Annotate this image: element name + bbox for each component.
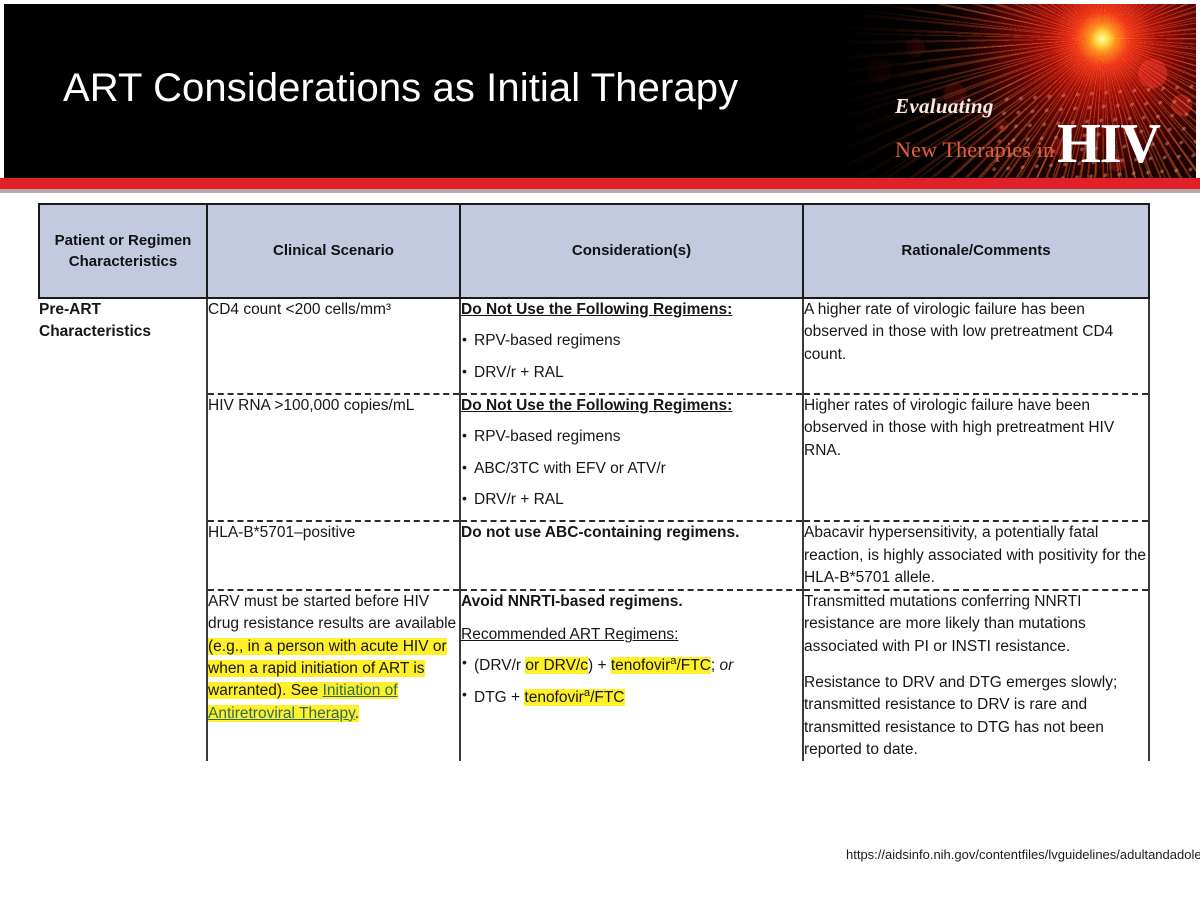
cell-considerations: Do not use ABC-containing regimens. [460, 521, 803, 590]
cell-considerations: Avoid NNRTI-based regimens. Recommended … [460, 590, 803, 761]
consideration-heading: Do Not Use the Following Regimens: [461, 299, 802, 321]
table-row: Pre-ART Characteristics CD4 count <200 c… [39, 298, 1149, 394]
program-logo: Evaluating New Therapies in HIV [885, 96, 1160, 168]
cell-characteristic [39, 590, 207, 761]
regimen-highlight-3: tenofovira/FTC [524, 689, 624, 706]
column-header-considerations: Consideration(s) [460, 204, 803, 298]
cell-characteristic: Pre-ART Characteristics [39, 298, 207, 394]
table-row: ARV must be started before HIV drug resi… [39, 590, 1149, 761]
slide-banner: ART Considerations as Initial Therapy Ev… [4, 4, 1196, 178]
cell-clinical-scenario: ARV must be started before HIV drug resi… [207, 590, 460, 761]
logo-line-two: New Therapies in HIV [885, 120, 1160, 168]
consideration-bullet-list: (DRV/r or DRV/c) + tenofovira/FTC; or DT… [461, 653, 802, 710]
column-header-rationale-comments: Rationale/Comments [803, 204, 1149, 298]
table-row: HLA-B*5701–positive Do not use ABC-conta… [39, 521, 1149, 590]
regimen-pre: DTG + [474, 689, 524, 706]
page-title: ART Considerations as Initial Therapy [63, 61, 783, 116]
scenario-highlight-tail: . [355, 705, 359, 722]
cell-rationale: A higher rate of virologic failure has b… [803, 298, 1149, 394]
consideration-heading-text: Do Not Use the Following Regimens [461, 301, 727, 318]
grey-divider-bar [0, 189, 1200, 193]
scenario-text: HLA-B*5701–positive [208, 524, 355, 541]
table-row: HIV RNA >100,000 copies/mL Do Not Use th… [39, 394, 1149, 521]
table-header-row: Patient or Regimen Characteristics Clini… [39, 204, 1149, 298]
scenario-text: CD4 count <200 cells/mm³ [208, 301, 391, 318]
scenario-lead-text: ARV must be started before HIV drug resi… [208, 593, 456, 632]
list-item: DTG + tenofovira/FTC [461, 685, 802, 709]
cell-characteristic [39, 394, 207, 521]
consideration-bullet-list: RPV-based regimens DRV/r + RAL [461, 330, 802, 384]
logo-acronym-hiv: HIV [1057, 120, 1160, 168]
rationale-paragraph: Transmitted mutations conferring NNRTI r… [804, 591, 1148, 658]
consideration-heading-suffix: : [727, 301, 732, 318]
list-item: RPV-based regimens [461, 426, 802, 448]
consideration-subheading: Recommended ART Regimens: [461, 624, 802, 646]
scenario-text: HIV RNA >100,000 copies/mL [208, 397, 414, 414]
regimen-tenofovir: tenofovir [524, 689, 583, 706]
cell-considerations: Do Not Use the Following Regimens: RPV-b… [460, 394, 803, 521]
list-item: (DRV/r or DRV/c) + tenofovira/FTC; or [461, 653, 802, 677]
rationale-paragraph: Abacavir hypersensitivity, a potentially… [804, 522, 1148, 589]
considerations-table-wrap: Patient or Regimen Characteristics Clini… [38, 203, 1148, 761]
source-url-footer: https://aidsinfo.nih.gov/contentfiles/lv… [846, 845, 1186, 865]
consideration-statement: Avoid NNRTI-based regimens. [461, 591, 802, 613]
regimen-post: ; [711, 657, 720, 674]
consideration-heading-suffix: : [727, 397, 732, 414]
regimen-pre: (DRV/r [474, 657, 525, 674]
cell-rationale: Transmitted mutations conferring NNRTI r… [803, 590, 1149, 761]
regimen-ftc: /FTC [676, 657, 710, 674]
list-item: DRV/r + RAL [461, 362, 802, 384]
considerations-table: Patient or Regimen Characteristics Clini… [38, 203, 1150, 761]
regimen-highlight-2: tenofovira/FTC [611, 657, 711, 674]
regimen-mid: ) + [588, 657, 611, 674]
list-item: ABC/3TC with EFV or ATV/r [461, 458, 802, 480]
consideration-bullet-list: RPV-based regimens ABC/3TC with EFV or A… [461, 426, 802, 511]
red-divider-bar [0, 178, 1200, 189]
regimen-ftc: /FTC [590, 689, 624, 706]
cell-considerations: Do Not Use the Following Regimens: RPV-b… [460, 298, 803, 394]
regimen-or: or [720, 657, 734, 674]
list-item: RPV-based regimens [461, 330, 802, 352]
rationale-paragraph: Resistance to DRV and DTG emerges slowly… [804, 672, 1148, 761]
rationale-paragraph: Higher rates of virologic failure have b… [804, 395, 1148, 462]
column-header-clinical-scenario: Clinical Scenario [207, 204, 460, 298]
consideration-subheading-suffix: : [674, 626, 678, 643]
cell-clinical-scenario: HLA-B*5701–positive [207, 521, 460, 590]
consideration-heading-text: Do Not Use the Following Regimens [461, 397, 727, 414]
consideration-heading: Do Not Use the Following Regimens: [461, 395, 802, 417]
regimen-highlight-1: or DRV/c [525, 657, 588, 674]
cell-rationale: Abacavir hypersensitivity, a potentially… [803, 521, 1149, 590]
column-header-patient-or-regimen-characteristics: Patient or Regimen Characteristics [39, 204, 207, 298]
list-item: DRV/r + RAL [461, 489, 802, 511]
cell-clinical-scenario: CD4 count <200 cells/mm³ [207, 298, 460, 394]
cell-clinical-scenario: HIV RNA >100,000 copies/mL [207, 394, 460, 521]
consideration-statement: Do not use ABC-containing regimens. [461, 522, 802, 544]
rationale-paragraph: A higher rate of virologic failure has b… [804, 299, 1148, 366]
logo-line-new-therapies: New Therapies in [895, 139, 1054, 168]
cell-characteristic [39, 521, 207, 590]
cell-rationale: Higher rates of virologic failure have b… [803, 394, 1149, 521]
regimen-tenofovir: tenofovir [611, 657, 670, 674]
consideration-subheading-text: Recommended ART Regimens [461, 626, 674, 643]
